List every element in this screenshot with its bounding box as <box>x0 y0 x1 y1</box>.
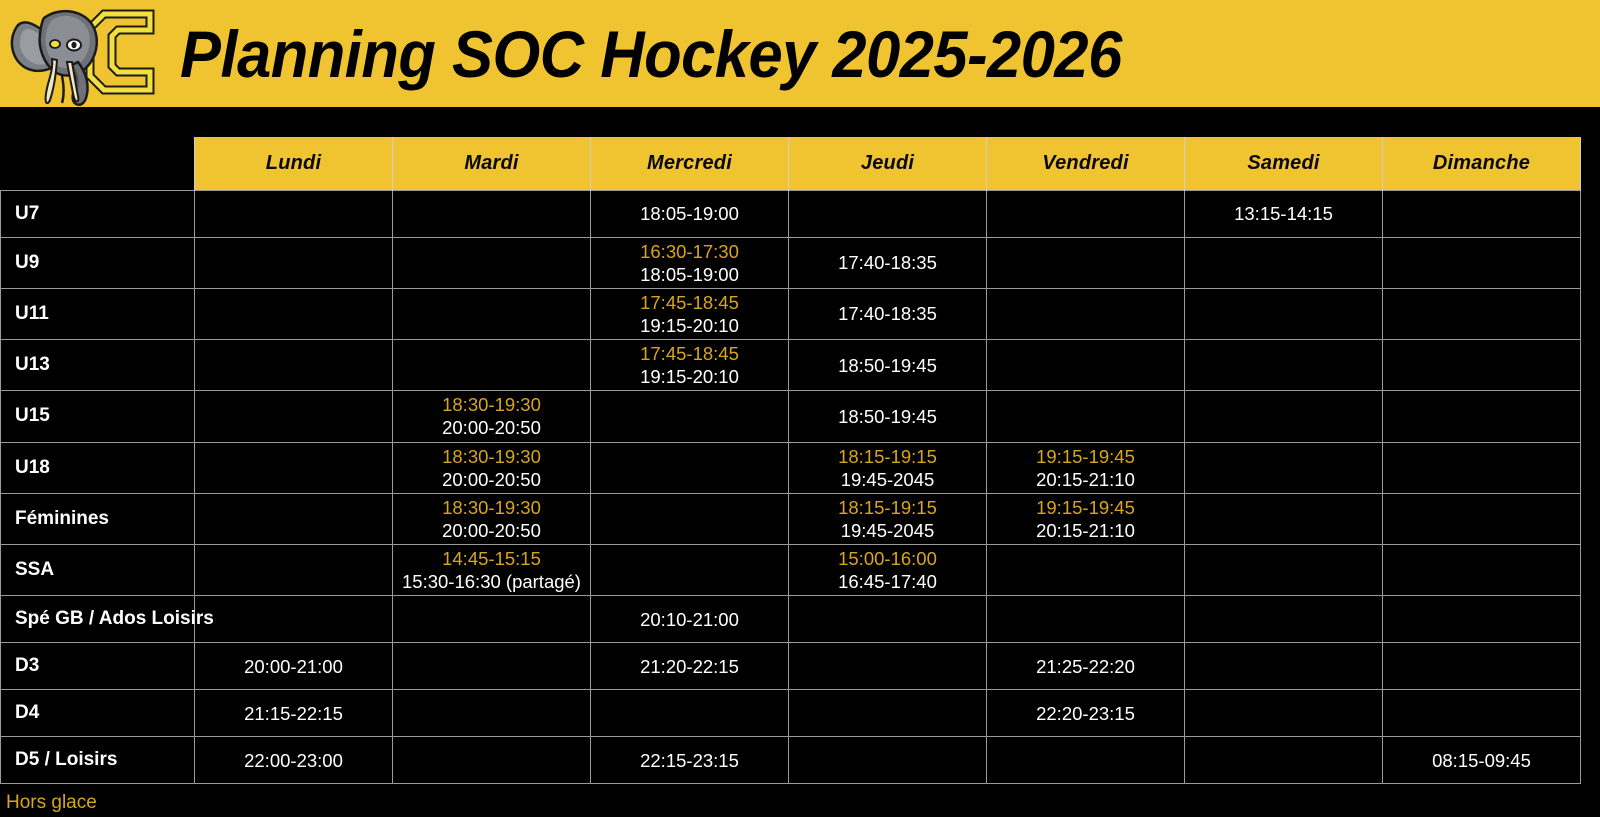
slot-cell-mercredi: 20:10-21:00 <box>591 596 789 643</box>
slot-cell-mercredi: 21:20-22:15 <box>591 643 789 690</box>
slot-off-ice: 18:15-19:15 <box>793 445 982 468</box>
slot-cell-jeudi: 15:00-16:0016:45-17:40 <box>789 545 987 596</box>
slot-cell-jeudi: 18:15-19:1519:45-2045 <box>789 442 987 493</box>
legend-hors-glace: Hors glace <box>6 790 1600 816</box>
schedule-container: Lundi Mardi Mercredi Jeudi Vendredi Same… <box>0 107 1600 784</box>
slot-on-ice: 20:15-21:10 <box>991 468 1180 491</box>
slot-cell-samedi <box>1185 737 1383 784</box>
slot-off-ice: 19:15-19:45 <box>991 445 1180 468</box>
slot-cell-lundi <box>195 190 393 237</box>
slot-cell-mardi <box>393 643 591 690</box>
slot-cell-mercredi <box>591 690 789 737</box>
slot-on-ice: 17:40-18:35 <box>793 302 982 325</box>
slot-on-ice: 18:50-19:45 <box>793 405 982 428</box>
slot-cell-mardi <box>393 237 591 288</box>
slot-cell-vendredi <box>987 545 1185 596</box>
slot-cell-dimanche <box>1383 237 1581 288</box>
slot-on-ice: 21:15-22:15 <box>199 702 388 725</box>
slot-on-ice: 19:45-2045 <box>793 468 982 491</box>
slot-on-ice: 18:05-19:00 <box>595 202 784 225</box>
elephant-c-club-logo <box>0 0 172 107</box>
slot-cell-vendredi <box>987 288 1185 339</box>
slot-cell-mercredi <box>591 493 789 544</box>
slot-cell-samedi <box>1185 340 1383 391</box>
category-label: U15 <box>1 391 195 442</box>
day-header-jeudi: Jeudi <box>789 137 987 190</box>
category-label: SSA <box>1 545 195 596</box>
table-row: Féminines18:30-19:3020:00-20:5018:15-19:… <box>1 493 1581 544</box>
slot-cell-vendredi <box>987 237 1185 288</box>
category-label: U7 <box>1 190 195 237</box>
day-header-lundi: Lundi <box>195 137 393 190</box>
slot-cell-mardi: 14:45-15:1515:30-16:30 (partagé) <box>393 545 591 596</box>
slot-off-ice: 19:15-19:45 <box>991 496 1180 519</box>
slot-on-ice: 20:00-21:00 <box>199 655 388 678</box>
slot-cell-lundi: 22:00-23:00 <box>195 737 393 784</box>
schedule-body: U718:05-19:0013:15-14:15U916:30-17:3018:… <box>1 190 1581 784</box>
slot-off-ice: 14:45-15:15 <box>397 547 586 570</box>
slot-cell-vendredi <box>987 391 1185 442</box>
slot-on-ice: 15:30-16:30 (partagé) <box>397 570 586 593</box>
table-row: D320:00-21:0021:20-22:1521:25-22:20 <box>1 643 1581 690</box>
slot-cell-mercredi: 22:15-23:15 <box>591 737 789 784</box>
slot-cell-mardi: 18:30-19:3020:00-20:50 <box>393 391 591 442</box>
slot-cell-mercredi <box>591 545 789 596</box>
schedule-head: Lundi Mardi Mercredi Jeudi Vendredi Same… <box>1 137 1581 190</box>
slot-cell-vendredi <box>987 190 1185 237</box>
slot-on-ice: 08:15-09:45 <box>1387 749 1576 772</box>
day-header-samedi: Samedi <box>1185 137 1383 190</box>
slot-cell-jeudi <box>789 643 987 690</box>
slot-off-ice: 15:00-16:00 <box>793 547 982 570</box>
slot-cell-jeudi: 18:50-19:45 <box>789 340 987 391</box>
slot-cell-vendredi: 19:15-19:4520:15-21:10 <box>987 493 1185 544</box>
slot-cell-mardi <box>393 288 591 339</box>
slot-off-ice: 18:30-19:30 <box>397 445 586 468</box>
slot-on-ice: 19:15-20:10 <box>595 314 784 337</box>
category-label: U11 <box>1 288 195 339</box>
slot-cell-mardi <box>393 340 591 391</box>
slot-cell-jeudi <box>789 737 987 784</box>
slot-cell-vendredi: 19:15-19:4520:15-21:10 <box>987 442 1185 493</box>
slot-cell-dimanche <box>1383 340 1581 391</box>
slot-on-ice: 19:15-20:10 <box>595 365 784 388</box>
table-row: Spé GB / Ados Loisirs20:10-21:00 <box>1 596 1581 643</box>
slot-cell-mardi <box>393 190 591 237</box>
category-label: D4 <box>1 690 195 737</box>
slot-cell-dimanche <box>1383 596 1581 643</box>
slot-cell-mardi <box>393 690 591 737</box>
slot-cell-vendredi <box>987 340 1185 391</box>
slot-cell-mercredi: 17:45-18:4519:15-20:10 <box>591 340 789 391</box>
page-header: Planning SOC Hockey 2025-2026 <box>0 0 1600 107</box>
slot-cell-lundi <box>195 493 393 544</box>
slot-cell-lundi <box>195 596 393 643</box>
slot-cell-mardi: 18:30-19:3020:00-20:50 <box>393 493 591 544</box>
slot-cell-dimanche <box>1383 545 1581 596</box>
table-row: U718:05-19:0013:15-14:15 <box>1 190 1581 237</box>
slot-cell-dimanche <box>1383 190 1581 237</box>
category-label: D3 <box>1 643 195 690</box>
category-label: Féminines <box>1 493 195 544</box>
slot-cell-mardi <box>393 737 591 784</box>
slot-cell-vendredi: 21:25-22:20 <box>987 643 1185 690</box>
category-label: U18 <box>1 442 195 493</box>
slot-cell-samedi <box>1185 643 1383 690</box>
slot-cell-mardi: 18:30-19:3020:00-20:50 <box>393 442 591 493</box>
slot-cell-jeudi <box>789 690 987 737</box>
slot-off-ice: 18:15-19:15 <box>793 496 982 519</box>
slot-on-ice: 20:00-20:50 <box>397 519 586 542</box>
slot-cell-jeudi <box>789 596 987 643</box>
slot-cell-dimanche <box>1383 493 1581 544</box>
slot-on-ice: 20:00-20:50 <box>397 468 586 491</box>
slot-cell-jeudi: 17:40-18:35 <box>789 288 987 339</box>
table-row: U1317:45-18:4519:15-20:1018:50-19:45 <box>1 340 1581 391</box>
slot-cell-dimanche: 08:15-09:45 <box>1383 737 1581 784</box>
table-row: D421:15-22:1522:20-23:15 <box>1 690 1581 737</box>
slot-cell-dimanche <box>1383 442 1581 493</box>
table-row: SSA14:45-15:1515:30-16:30 (partagé)15:00… <box>1 545 1581 596</box>
slot-cell-lundi <box>195 237 393 288</box>
slot-cell-dimanche <box>1383 643 1581 690</box>
slot-cell-lundi: 21:15-22:15 <box>195 690 393 737</box>
category-label: U13 <box>1 340 195 391</box>
slot-on-ice: 16:45-17:40 <box>793 570 982 593</box>
slot-cell-samedi <box>1185 442 1383 493</box>
slot-cell-dimanche <box>1383 690 1581 737</box>
slot-on-ice: 22:20-23:15 <box>991 702 1180 725</box>
slot-cell-samedi <box>1185 288 1383 339</box>
slot-cell-mercredi <box>591 391 789 442</box>
slot-on-ice: 18:05-19:00 <box>595 263 784 286</box>
slot-cell-mercredi: 17:45-18:4519:15-20:10 <box>591 288 789 339</box>
slot-off-ice: 18:30-19:30 <box>397 393 586 416</box>
slot-cell-vendredi <box>987 596 1185 643</box>
slot-cell-jeudi <box>789 190 987 237</box>
category-label: U9 <box>1 237 195 288</box>
day-header-row: Lundi Mardi Mercredi Jeudi Vendredi Same… <box>1 137 1581 190</box>
slot-cell-lundi <box>195 442 393 493</box>
slot-on-ice: 22:00-23:00 <box>199 749 388 772</box>
slot-cell-vendredi <box>987 737 1185 784</box>
slot-cell-lundi <box>195 391 393 442</box>
slot-on-ice: 22:15-23:15 <box>595 749 784 772</box>
slot-on-ice: 20:00-20:50 <box>397 416 586 439</box>
slot-on-ice: 21:20-22:15 <box>595 655 784 678</box>
slot-off-ice: 18:30-19:30 <box>397 496 586 519</box>
slot-on-ice: 21:25-22:20 <box>991 655 1180 678</box>
table-row: D5 / Loisirs22:00-23:0022:15-23:1508:15-… <box>1 737 1581 784</box>
slot-on-ice: 18:50-19:45 <box>793 354 982 377</box>
slot-off-ice: 17:45-18:45 <box>595 291 784 314</box>
slot-on-ice: 19:45-2045 <box>793 519 982 542</box>
legend: Hors glace Glace <box>0 784 1600 817</box>
slot-cell-samedi <box>1185 690 1383 737</box>
slot-cell-mercredi: 18:05-19:00 <box>591 190 789 237</box>
slot-cell-jeudi: 17:40-18:35 <box>789 237 987 288</box>
day-header-vendredi: Vendredi <box>987 137 1185 190</box>
slot-cell-lundi <box>195 545 393 596</box>
table-row: U1518:30-19:3020:00-20:5018:50-19:45 <box>1 391 1581 442</box>
slot-cell-samedi <box>1185 596 1383 643</box>
slot-on-ice: 20:10-21:00 <box>595 608 784 631</box>
category-label: D5 / Loisirs <box>1 737 195 784</box>
slot-cell-dimanche <box>1383 288 1581 339</box>
slot-cell-vendredi: 22:20-23:15 <box>987 690 1185 737</box>
slot-cell-dimanche <box>1383 391 1581 442</box>
slot-cell-mardi <box>393 596 591 643</box>
slot-on-ice: 20:15-21:10 <box>991 519 1180 542</box>
table-row: U916:30-17:3018:05-19:0017:40-18:35 <box>1 237 1581 288</box>
slot-cell-samedi <box>1185 493 1383 544</box>
table-row: U1818:30-19:3020:00-20:5018:15-19:1519:4… <box>1 442 1581 493</box>
slot-cell-jeudi: 18:50-19:45 <box>789 391 987 442</box>
schedule-table: Lundi Mardi Mercredi Jeudi Vendredi Same… <box>0 137 1581 784</box>
slot-off-ice: 17:45-18:45 <box>595 342 784 365</box>
day-header-mardi: Mardi <box>393 137 591 190</box>
corner-cell <box>1 137 195 190</box>
slot-cell-mercredi <box>591 442 789 493</box>
slot-cell-lundi: 20:00-21:00 <box>195 643 393 690</box>
day-header-mercredi: Mercredi <box>591 137 789 190</box>
category-label: Spé GB / Ados Loisirs <box>1 596 195 643</box>
slot-cell-lundi <box>195 340 393 391</box>
slot-on-ice: 17:40-18:35 <box>793 251 982 274</box>
slot-cell-jeudi: 18:15-19:1519:45-2045 <box>789 493 987 544</box>
letter-c-glyph <box>90 14 150 90</box>
slot-cell-mercredi: 16:30-17:3018:05-19:00 <box>591 237 789 288</box>
slot-cell-lundi <box>195 288 393 339</box>
day-header-dimanche: Dimanche <box>1383 137 1581 190</box>
slot-cell-samedi <box>1185 545 1383 596</box>
slot-off-ice: 16:30-17:30 <box>595 240 784 263</box>
elephant-head <box>12 11 97 105</box>
page-title: Planning SOC Hockey 2025-2026 <box>180 21 1122 87</box>
slot-cell-samedi <box>1185 237 1383 288</box>
slot-cell-samedi: 13:15-14:15 <box>1185 190 1383 237</box>
table-row: U1117:45-18:4519:15-20:1017:40-18:35 <box>1 288 1581 339</box>
slot-on-ice: 13:15-14:15 <box>1189 202 1378 225</box>
slot-cell-samedi <box>1185 391 1383 442</box>
